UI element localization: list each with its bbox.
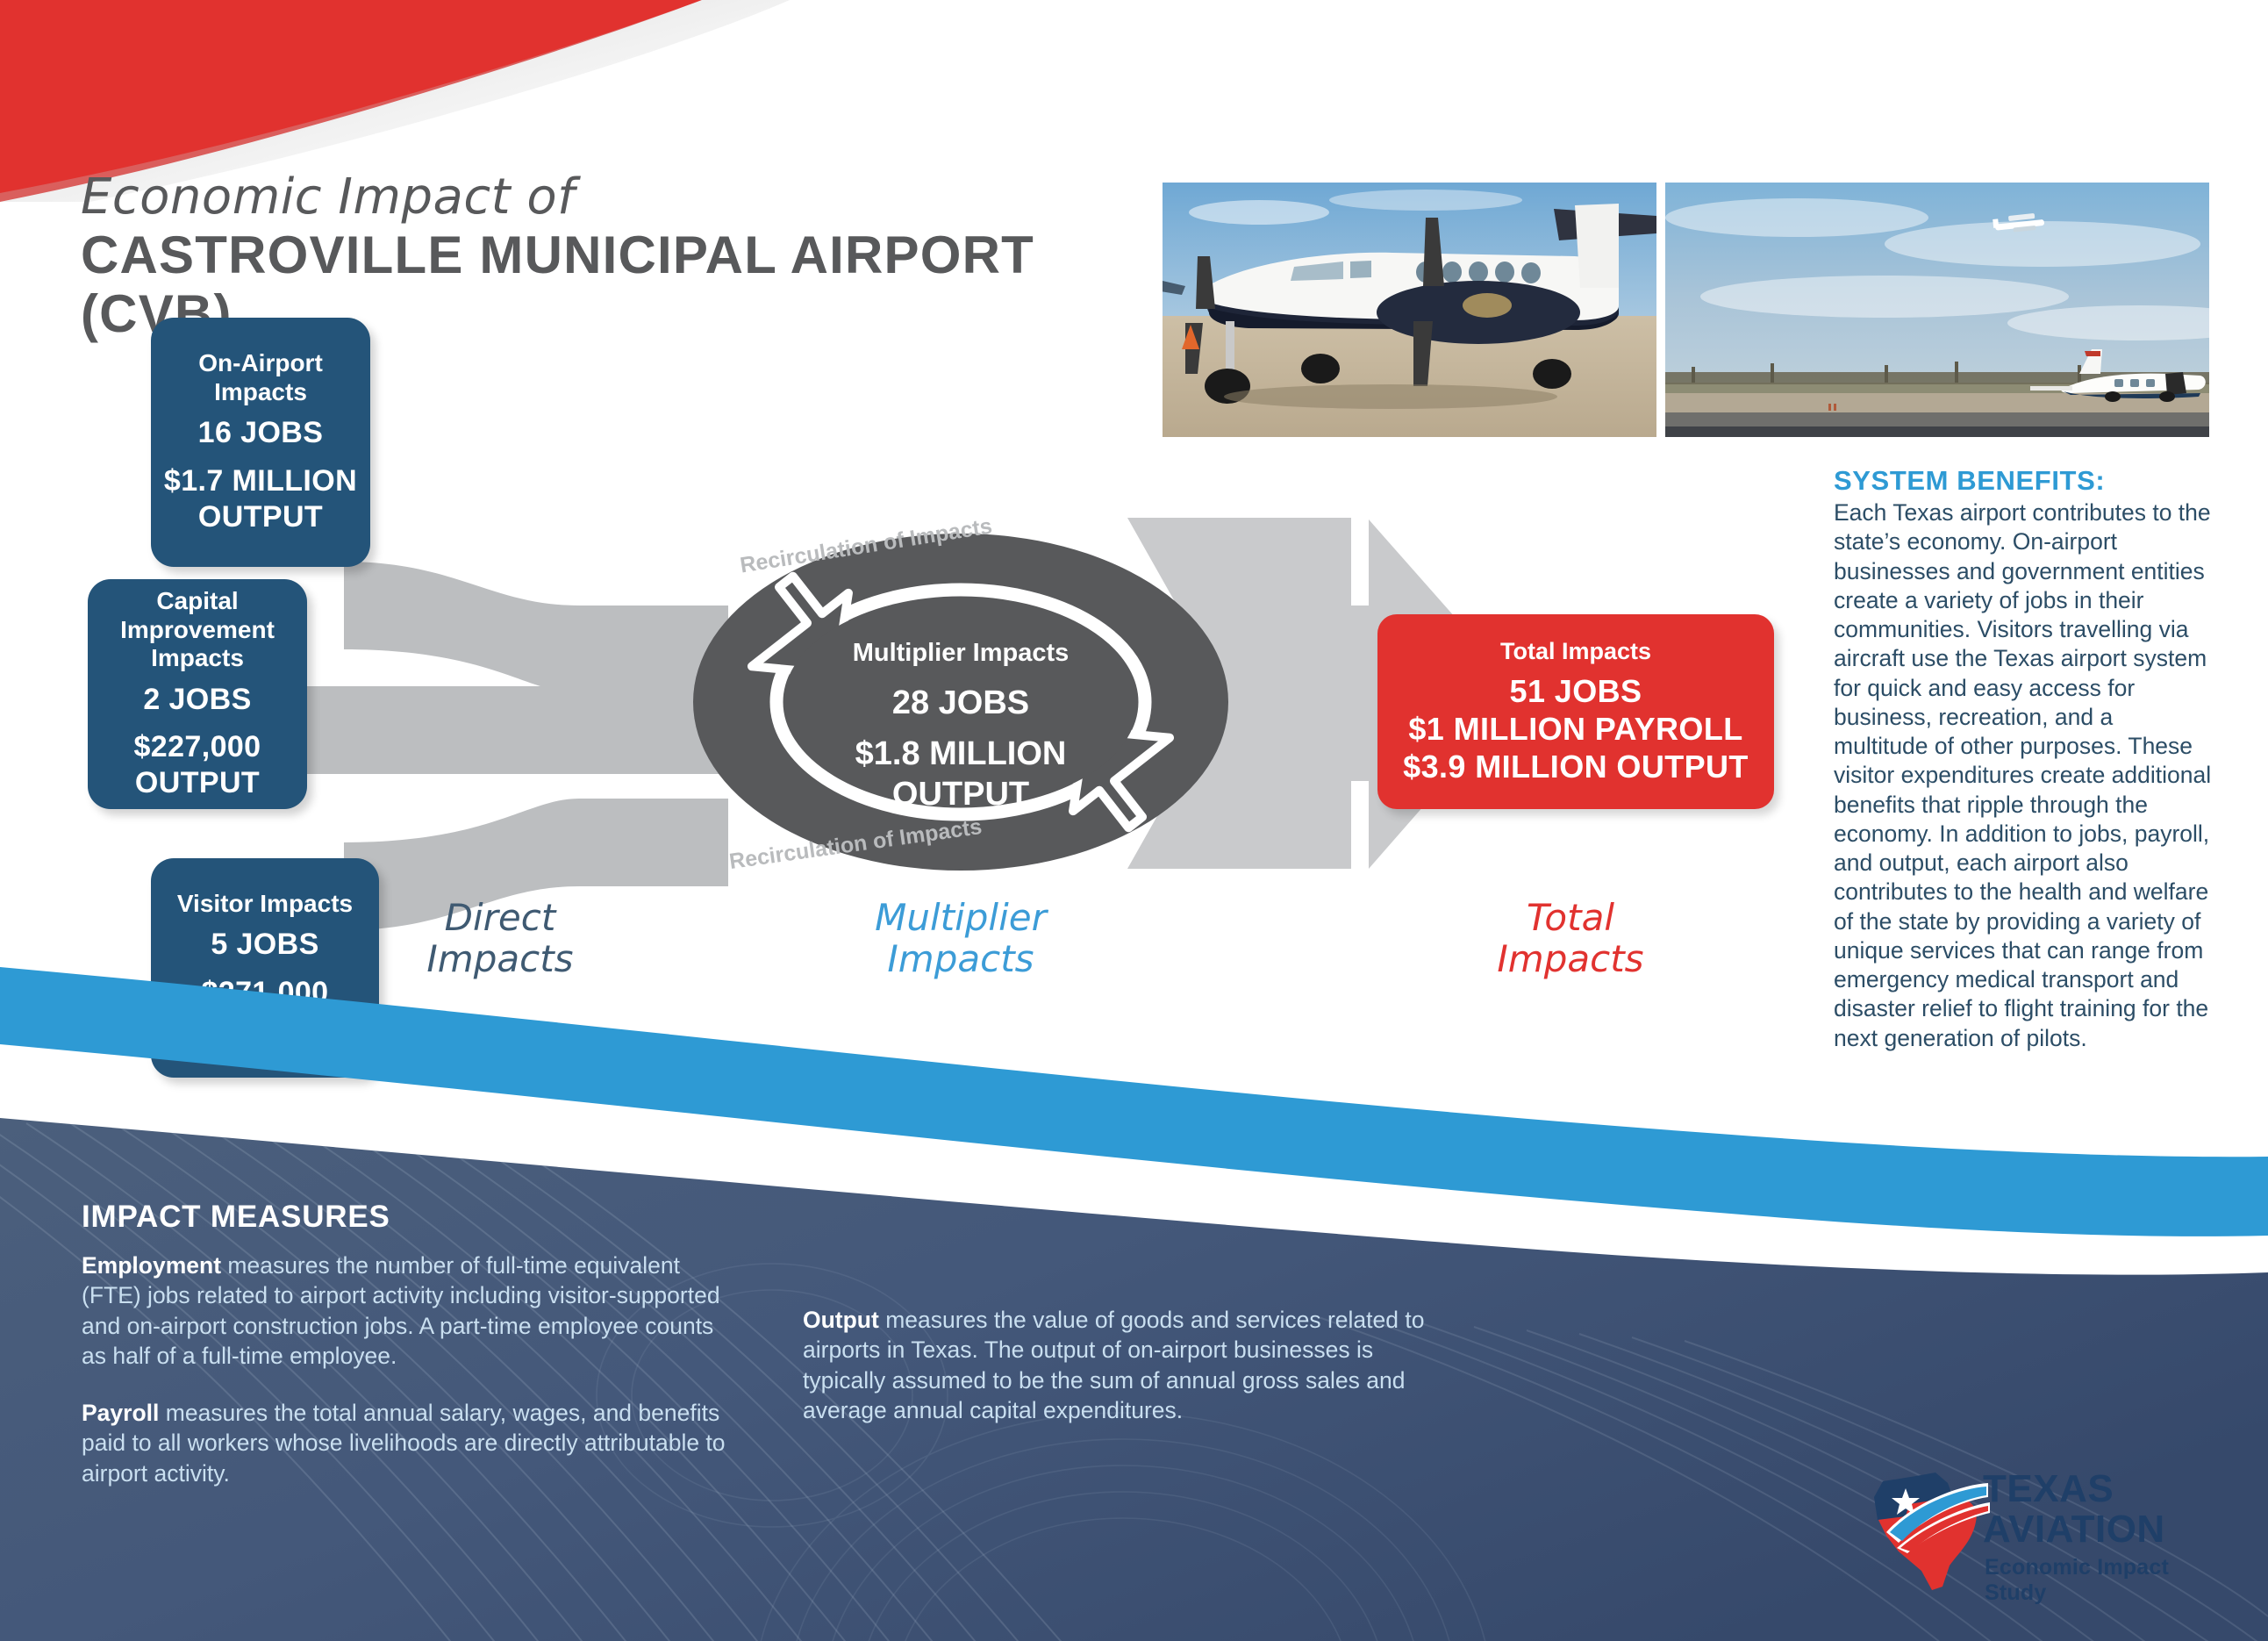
total-impacts-payroll: $1 MILLION PAYROLL: [1408, 710, 1742, 748]
capital-output-label: OUTPUT: [135, 765, 260, 801]
on-airport-impacts-card: On-Airport Impacts 16 JOBS $1.7 MILLION …: [151, 318, 370, 567]
texas-state-shape-icon: [1851, 1467, 1992, 1599]
logo-tagline: Economic Impact Study: [1985, 1555, 2211, 1606]
impact-measure-payroll-term: Payroll: [82, 1400, 159, 1426]
total-impacts-card: Total Impacts 51 JOBS $1 MILLION PAYROLL…: [1377, 614, 1774, 809]
on-airport-title-line2: Impacts: [214, 378, 307, 405]
impact-measure-output-text: measures the value of goods and services…: [803, 1307, 1424, 1423]
capital-jobs: 2 JOBS: [143, 682, 251, 718]
capital-improvement-title: Capital Improvement Impacts: [120, 587, 275, 672]
total-impacts-output: $3.9 MILLION OUTPUT: [1403, 748, 1749, 785]
multiplier-impacts-cycle: Recirculation of Impacts Recirculation o…: [693, 527, 1228, 878]
logo-text-texas: TEXAS: [1983, 1471, 2114, 1508]
impact-measure-payroll-text: measures the total annual salary, wages,…: [82, 1400, 726, 1487]
texas-aviation-logo: TEXAS AVIATION Economic Impact Study: [1851, 1467, 2211, 1608]
impact-measure-payroll: Payroll measures the total annual salary…: [82, 1398, 735, 1488]
capital-title-line3: Impacts: [151, 644, 244, 671]
capital-title-line1: Capital: [156, 587, 238, 614]
impact-measures-column-right: Output measures the value of goods and s…: [803, 1305, 1443, 1452]
capital-title-line2: Improvement: [120, 616, 275, 643]
logo-text-aviation: AVIATION: [1983, 1511, 2165, 1548]
impact-measure-output-term: Output: [803, 1307, 879, 1333]
total-impacts-title: Total Impacts: [1500, 638, 1651, 665]
impact-measures-heading: IMPACT MEASURES: [82, 1200, 390, 1235]
on-airport-output-value: $1.7 MILLION: [164, 463, 357, 499]
total-impacts-jobs: 51 JOBS: [1510, 672, 1642, 710]
infographic-page: Economic Impact of CASTROVILLE MUNICIPAL…: [0, 0, 2268, 1641]
capital-improvement-impacts-card: Capital Improvement Impacts 2 JOBS $227,…: [88, 579, 307, 809]
on-airport-jobs: 16 JOBS: [198, 415, 324, 451]
on-airport-output-label: OUTPUT: [198, 499, 323, 535]
on-airport-impacts-title: On-Airport Impacts: [198, 349, 323, 406]
system-benefits-heading: SYSTEM BENEFITS:: [1834, 465, 2213, 497]
on-airport-title-line1: On-Airport: [198, 349, 323, 376]
impact-measure-employment: Employment measures the number of full-t…: [82, 1250, 735, 1372]
impact-measure-employment-term: Employment: [82, 1252, 221, 1279]
impact-measure-output: Output measures the value of goods and s…: [803, 1305, 1443, 1426]
capital-output-value: $227,000: [133, 729, 261, 765]
impact-measures-column-left: Employment measures the number of full-t…: [82, 1250, 735, 1515]
